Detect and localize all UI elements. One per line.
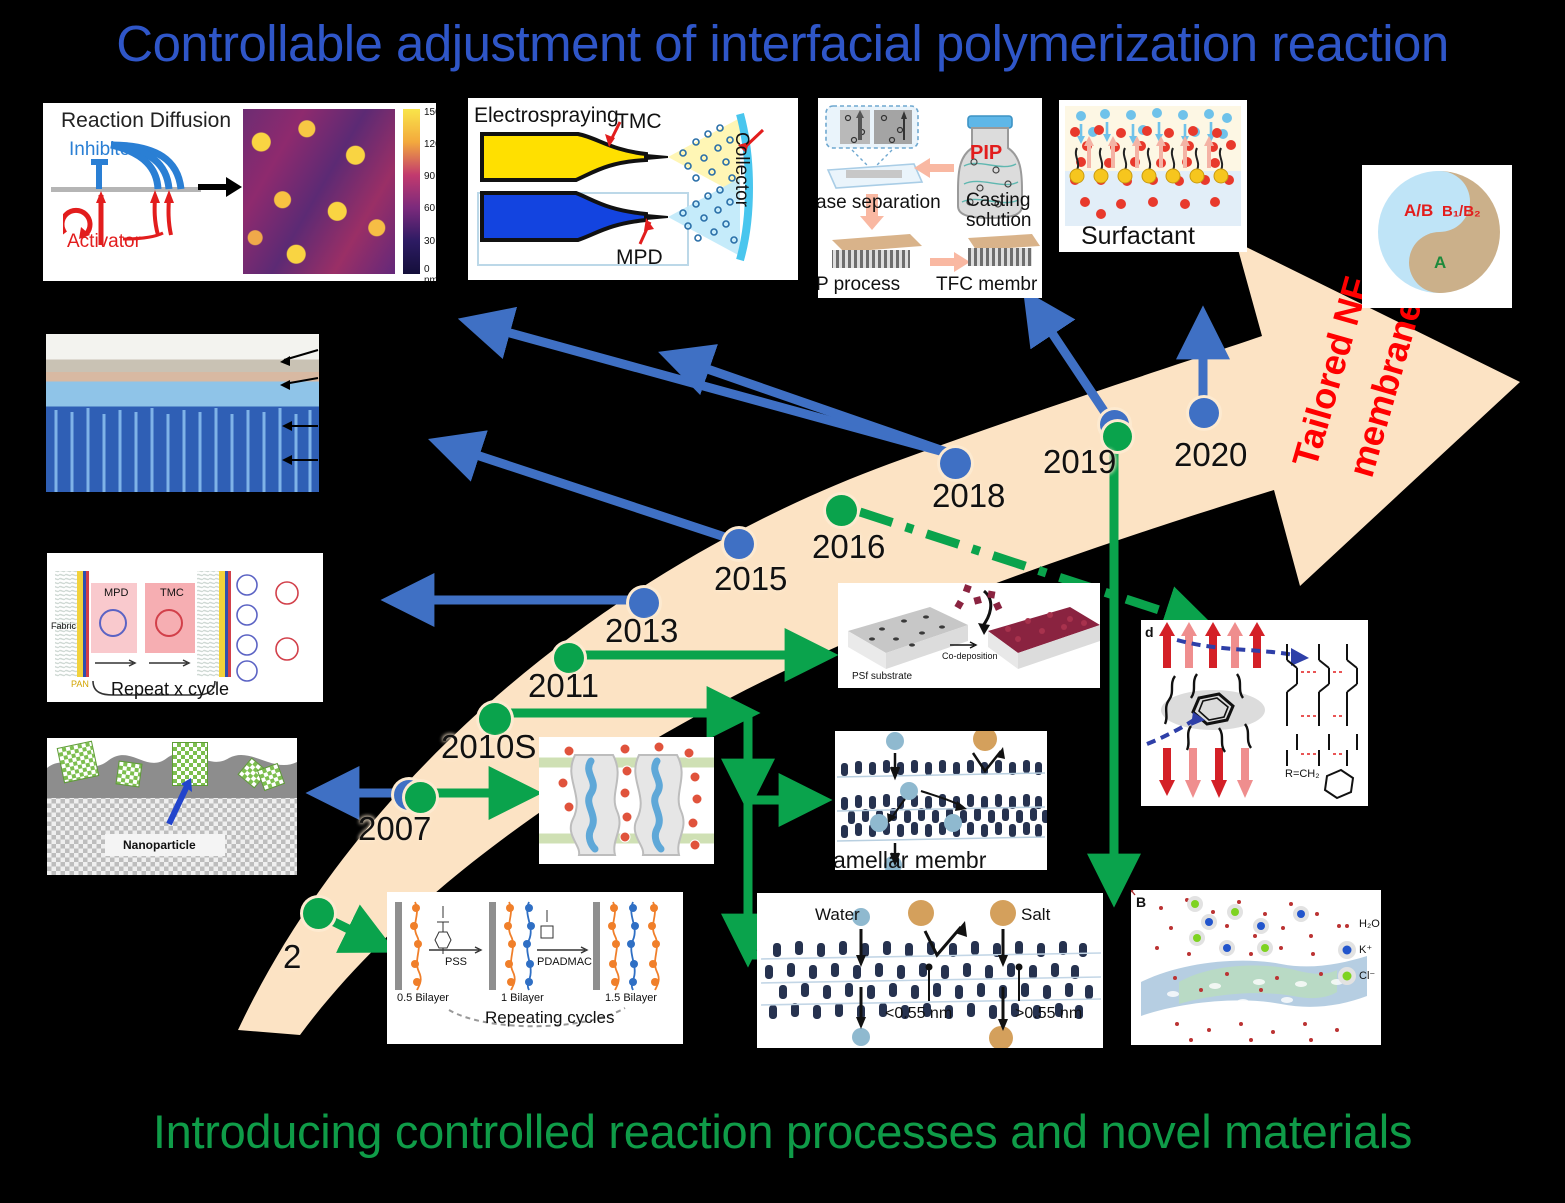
year-label-2013: 2013	[605, 612, 678, 650]
mpd-panel-label: MPD	[104, 587, 128, 599]
repeating-cycles-label: Repeating cycles	[485, 1008, 614, 1028]
panel-yinyang: A/B B₁/B₂ A	[1362, 165, 1512, 308]
reaction-diffusion-title: Reaction Diffusion	[61, 109, 231, 133]
process-arrow-icon	[198, 175, 242, 199]
panel-membrane-cross-section	[46, 334, 319, 492]
yinyang-label-ab: A/B	[1404, 201, 1433, 221]
pip-label: PIP	[970, 142, 1002, 165]
colorbar-tick-120: 120	[424, 139, 436, 150]
pore-small-label: <0.55 nm	[885, 1005, 952, 1023]
lbl-step-1-5: 1.5 Bilayer	[605, 992, 657, 1004]
panel-phase-separation: PIP Casting solution ase separation P pr…	[818, 98, 1042, 298]
nanoparticle-label: Nanoparticle	[123, 838, 196, 852]
yinyang-label-a: A	[1434, 253, 1446, 273]
psf-substrate-label: PSf substrate	[852, 671, 912, 682]
timeline-dot-2018[interactable]	[940, 448, 971, 479]
panel-d-tag: d	[1145, 624, 1154, 640]
year-label-2019: 2019	[1043, 443, 1116, 481]
panel-protein-channel	[539, 737, 714, 864]
page-title: Controllable adjustment of interfacial p…	[0, 14, 1565, 73]
surfactant-label: Surfactant	[1081, 222, 1195, 251]
r-group-label: R=CH₂	[1285, 768, 1320, 780]
panel-reaction-diffusion: Reaction Diffusion Inhibitor Activator 1…	[43, 103, 436, 281]
collector-label: Collector	[730, 132, 752, 207]
timeline-dot-2016[interactable]	[826, 495, 857, 526]
yinyang-icon	[1378, 171, 1500, 293]
page-footer: Introducing controlled reaction processe…	[0, 1104, 1565, 1159]
timeline-dot-2015[interactable]	[724, 529, 754, 559]
panel-layer-by-layer: 0.5 Bilayer 1 Bilayer 1.5 Bilayer PSS PD…	[387, 892, 683, 1044]
mpd-label: MPD	[616, 246, 663, 270]
chem-d-artwork	[1141, 620, 1368, 806]
panel-co-deposition: PSf substrate Co-deposition	[838, 583, 1100, 688]
tfc-membrane-label: TFC membr	[936, 274, 1037, 296]
panel-md-simulation: B H₂O K⁺ Cl⁻	[1131, 890, 1381, 1045]
pan-label: PAN	[71, 679, 89, 689]
water-label: Water	[815, 905, 860, 925]
water-salt-artwork	[757, 893, 1103, 1048]
ip-process-label: P process	[818, 274, 900, 296]
nanoparticle-flake-2	[115, 760, 142, 787]
pss-label: PSS	[445, 956, 467, 968]
afm-colorbar	[403, 109, 420, 274]
yinyang-label-b1b2: B₁/B₂	[1442, 203, 1481, 220]
colorbar-tick-0: 0 nm	[424, 264, 436, 281]
lbl-step-1: 1 Bilayer	[501, 992, 544, 1004]
panel-surfactant: Surfactant	[1059, 100, 1247, 252]
panel-electrospraying: Electrospraying TMC MPD Collector	[468, 98, 798, 280]
protein-channel-artwork	[539, 737, 714, 864]
md-artwork	[1131, 890, 1381, 1045]
fabric-label: Fabric	[51, 621, 76, 631]
panel-nanoparticle: Nanoparticle	[47, 738, 297, 875]
colorbar-tick-90: 90	[424, 171, 435, 182]
panel-mpd-tmc-cycle: Fabric PAN MPD TMC Repeat x cycle	[47, 553, 323, 702]
tmc-label: TMC	[616, 110, 662, 134]
year-label-2011: 2011	[528, 667, 599, 705]
pore-large-label: >0.55 nm	[1015, 1005, 1082, 1023]
colorbar-tick-60: 60	[424, 203, 435, 214]
year-label-2007: 2007	[358, 810, 431, 848]
colorbar-tick-150: 150	[424, 107, 436, 118]
salt-label: Salt	[1021, 905, 1050, 925]
year-label-2015: 2015	[714, 560, 787, 598]
lamellar-membrane-label: amellar membr	[835, 847, 986, 870]
phase-separation-label: ase separation	[818, 192, 941, 214]
year-label-2020: 2020	[1174, 436, 1247, 474]
pdadmac-label: PDADMAC	[537, 956, 592, 968]
activator-arrows-icon	[63, 187, 203, 249]
repeat-cycle-label: Repeat x cycle	[111, 679, 229, 700]
legend-cl-ion: Cl⁻	[1359, 969, 1375, 982]
timeline-dot-2007-green[interactable]	[405, 782, 436, 813]
electrospraying-title: Electrospraying	[474, 104, 619, 128]
afm-height-map	[243, 109, 395, 274]
legend-k-ion: K⁺	[1359, 943, 1372, 956]
panel-chem-d: d R=CH₂	[1141, 620, 1368, 806]
inhibitor-stem-icon	[96, 161, 102, 189]
year-label-2018: 2018	[932, 477, 1005, 515]
year-label-2016: 2016	[812, 528, 885, 566]
poster-canvas: Controllable adjustment of interfacial p…	[0, 0, 1565, 1203]
panel-water-salt: Water Salt <0.55 nm >0.55 nm	[757, 893, 1103, 1048]
panel-lamellar-membrane: amellar membr	[835, 731, 1047, 870]
year-label-2000s: 2	[283, 938, 301, 976]
inhibitor-curves-icon	[103, 139, 203, 191]
casting-label: Casting	[966, 190, 1030, 212]
nanoparticle-pointer-arrow	[157, 768, 217, 828]
lbl-step-0-5: 0.5 Bilayer	[397, 992, 449, 1004]
surfactant-artwork	[1065, 106, 1241, 226]
membrane-cross-section-artwork	[46, 334, 319, 492]
colorbar-tick-30: 30	[424, 236, 435, 247]
casting-solution-label: solution	[966, 210, 1032, 232]
legend-h2o: H₂O	[1359, 918, 1380, 930]
timeline-dot-2000s[interactable]	[303, 898, 334, 929]
nanoparticle-flake-1	[57, 741, 100, 784]
year-label-2010s: 2010S	[441, 728, 536, 766]
timeline-dot-2020[interactable]	[1189, 398, 1219, 428]
panel-b-tag: B	[1136, 894, 1146, 910]
co-deposition-label: Co-deposition	[942, 651, 998, 661]
tmc-panel-label: TMC	[160, 587, 184, 599]
